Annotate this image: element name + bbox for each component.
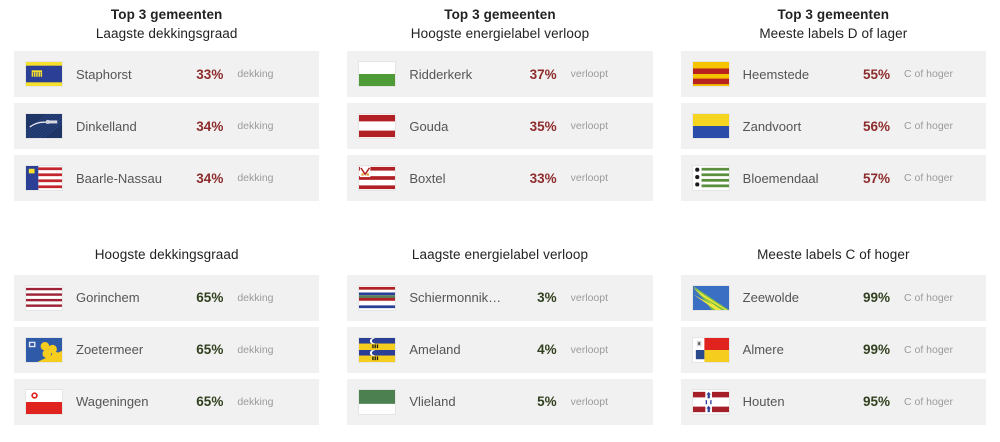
flag-wageningen-icon: [25, 389, 63, 415]
table-row[interactable]: Boxtel33%verloopt: [347, 155, 652, 201]
flag-baarle-nassau-icon: [25, 165, 63, 191]
percentage-value: 65%: [171, 342, 231, 357]
flag-zeewolde-icon: [692, 285, 730, 311]
table-row[interactable]: Heemstede55%C of hoger: [681, 51, 986, 97]
bottom-section: Hoogste dekkingsgraad Gorinchem65%dekkin…: [0, 232, 1000, 442]
flag-cell: [351, 389, 403, 415]
percentage-value: 56%: [838, 119, 898, 134]
flag-cell: [18, 337, 70, 363]
flag-cell: [18, 113, 70, 139]
flag-cell: [351, 113, 403, 139]
column-title: Top 3 gemeenten: [14, 6, 319, 25]
metric-unit-label: C of hoger: [898, 68, 976, 80]
column-meeste-labels-d-of-lager: Top 3 gemeentenMeeste labels D of lager …: [667, 0, 1000, 232]
table-row[interactable]: Vlieland5%verloopt: [347, 379, 652, 425]
column-header: Top 3 gemeentenLaagste dekkingsgraad: [14, 0, 319, 47]
table-row[interactable]: Gouda35%verloopt: [347, 103, 652, 149]
flag-bloemendaal-icon: [692, 165, 730, 191]
percentage-value: 65%: [171, 394, 231, 409]
table-row[interactable]: Zoetermeer65%dekking: [14, 327, 319, 373]
table-row[interactable]: Schiermonnikoog3%verloopt: [347, 275, 652, 321]
ranking-list: Schiermonnikoog3%verloopt Ameland4%verlo…: [347, 275, 652, 425]
flag-houten-icon: [692, 389, 730, 415]
percentage-value: 95%: [838, 394, 898, 409]
municipality-name: Wageningen: [70, 394, 171, 409]
metric-unit-label: C of hoger: [898, 172, 976, 184]
table-row[interactable]: Ameland4%verloopt: [347, 327, 652, 373]
municipality-name: Gorinchem: [70, 290, 171, 305]
metric-unit-label: verloopt: [565, 292, 643, 304]
table-row[interactable]: Houten95%C of hoger: [681, 379, 986, 425]
column-laagste-dekkingsgraad: Top 3 gemeentenLaagste dekkingsgraad Sta…: [0, 0, 333, 232]
metric-unit-label: C of hoger: [898, 120, 976, 132]
flag-zandvoort-icon: [692, 113, 730, 139]
column-header: Top 3 gemeentenMeeste labels D of lager: [681, 0, 986, 47]
municipality-name: Heemstede: [737, 67, 838, 82]
percentage-value: 37%: [505, 67, 565, 82]
flag-gouda-icon: [358, 113, 396, 139]
percentage-value: 55%: [838, 67, 898, 82]
percentage-value: 34%: [171, 119, 231, 134]
ranking-list: Ridderkerk37%verloopt Gouda35%verloopt B…: [347, 51, 652, 201]
flag-cell: [18, 389, 70, 415]
column-subtitle: Laagste energielabel verloop: [347, 246, 652, 265]
flag-cell: [351, 165, 403, 191]
top-section: Top 3 gemeentenLaagste dekkingsgraad Sta…: [0, 0, 1000, 232]
flag-cell: [685, 285, 737, 311]
table-row[interactable]: Baarle-Nassau34%dekking: [14, 155, 319, 201]
percentage-value: 33%: [171, 67, 231, 82]
table-row[interactable]: Dinkelland34%dekking: [14, 103, 319, 149]
ranking-list: Gorinchem65%dekking Zoetermeer65%dekking…: [14, 275, 319, 425]
percentage-value: 4%: [505, 342, 565, 357]
municipality-name: Almere: [737, 342, 838, 357]
metric-unit-label: verloopt: [565, 68, 643, 80]
metric-unit-label: verloopt: [565, 344, 643, 356]
flag-almere-icon: [692, 337, 730, 363]
ranking-list: Zeewolde99%C of hoger Almere99%C of hoge…: [681, 275, 986, 425]
metric-unit-label: verloopt: [565, 120, 643, 132]
metric-unit-label: dekking: [231, 344, 309, 356]
table-row[interactable]: Almere99%C of hoger: [681, 327, 986, 373]
municipality-name: Bloemendaal: [737, 171, 838, 186]
municipality-name: Staphorst: [70, 67, 171, 82]
table-row[interactable]: Bloemendaal57%C of hoger: [681, 155, 986, 201]
flag-boxtel-icon: [358, 165, 396, 191]
metric-unit-label: C of hoger: [898, 344, 976, 356]
ranking-list: Heemstede55%C of hoger Zandvoort56%C of …: [681, 51, 986, 201]
column-subtitle: Meeste labels C of hoger: [681, 246, 986, 265]
metric-unit-label: verloopt: [565, 396, 643, 408]
flag-schiermonnikoog-icon: [358, 285, 396, 311]
flag-cell: [351, 285, 403, 311]
column-hoogste-energielabel-verloop: Top 3 gemeentenHoogste energielabel verl…: [333, 0, 666, 232]
flag-ameland-icon: [358, 337, 396, 363]
column-subtitle: Hoogste dekkingsgraad: [14, 246, 319, 265]
municipality-name: Zeewolde: [737, 290, 838, 305]
percentage-value: 65%: [171, 290, 231, 305]
percentage-value: 35%: [505, 119, 565, 134]
flag-zoetermeer-icon: [25, 337, 63, 363]
municipality-name: Baarle-Nassau: [70, 171, 171, 186]
municipality-name: Boxtel: [403, 171, 504, 186]
municipality-name: Gouda: [403, 119, 504, 134]
metric-unit-label: dekking: [231, 172, 309, 184]
flag-cell: [351, 61, 403, 87]
percentage-value: 33%: [505, 171, 565, 186]
flag-vlieland-icon: [358, 389, 396, 415]
flag-cell: [685, 165, 737, 191]
metric-unit-label: C of hoger: [898, 292, 976, 304]
column-meeste-labels-c-of-hoger: Meeste labels C of hoger Zeewolde99%C of…: [667, 232, 1000, 442]
percentage-value: 3%: [505, 290, 565, 305]
column-subtitle: Meeste labels D of lager: [681, 25, 986, 44]
flag-staphorst-icon: [25, 61, 63, 87]
flag-cell: [351, 337, 403, 363]
flag-cell: [685, 61, 737, 87]
metric-unit-label: dekking: [231, 68, 309, 80]
flag-cell: [18, 285, 70, 311]
column-header: Hoogste dekkingsgraad: [14, 232, 319, 271]
column-header: Laagste energielabel verloop: [347, 232, 652, 271]
ranking-list: Staphorst33%dekking Dinkelland34%dekking…: [14, 51, 319, 201]
column-title: Top 3 gemeenten: [681, 6, 986, 25]
metric-unit-label: verloopt: [565, 172, 643, 184]
table-row[interactable]: Zeewolde99%C of hoger: [681, 275, 986, 321]
column-laagste-energielabel-verloop: Laagste energielabel verloop Schiermonni…: [333, 232, 666, 442]
flag-ridderkerk-icon: [358, 61, 396, 87]
flag-heemstede-icon: [692, 61, 730, 87]
municipality-name: Ameland: [403, 342, 504, 357]
municipality-name: Vlieland: [403, 394, 504, 409]
percentage-value: 99%: [838, 290, 898, 305]
municipality-name: Ridderkerk: [403, 67, 504, 82]
table-row[interactable]: Wageningen65%dekking: [14, 379, 319, 425]
municipality-name: Zoetermeer: [70, 342, 171, 357]
metric-unit-label: C of hoger: [898, 396, 976, 408]
table-row[interactable]: Zandvoort56%C of hoger: [681, 103, 986, 149]
column-hoogste-dekkingsgraad: Hoogste dekkingsgraad Gorinchem65%dekkin…: [0, 232, 333, 442]
municipality-name: Zandvoort: [737, 119, 838, 134]
flag-cell: [18, 61, 70, 87]
percentage-value: 99%: [838, 342, 898, 357]
flag-cell: [685, 337, 737, 363]
gemeenten-dashboard: Top 3 gemeentenLaagste dekkingsgraad Sta…: [0, 0, 1000, 442]
percentage-value: 5%: [505, 394, 565, 409]
metric-unit-label: dekking: [231, 120, 309, 132]
column-subtitle: Laagste dekkingsgraad: [14, 25, 319, 44]
flag-dinkelland-icon: [25, 113, 63, 139]
table-row[interactable]: Ridderkerk37%verloopt: [347, 51, 652, 97]
flag-gorinchem-icon: [25, 285, 63, 311]
flag-cell: [685, 389, 737, 415]
municipality-name: Houten: [737, 394, 838, 409]
municipality-name: Schiermonnikoog: [403, 290, 504, 305]
percentage-value: 57%: [838, 171, 898, 186]
column-title: Top 3 gemeenten: [347, 6, 652, 25]
flag-cell: [685, 113, 737, 139]
column-header: Meeste labels C of hoger: [681, 232, 986, 271]
percentage-value: 34%: [171, 171, 231, 186]
column-subtitle: Hoogste energielabel verloop: [347, 25, 652, 44]
metric-unit-label: dekking: [231, 396, 309, 408]
metric-unit-label: dekking: [231, 292, 309, 304]
table-row[interactable]: Gorinchem65%dekking: [14, 275, 319, 321]
municipality-name: Dinkelland: [70, 119, 171, 134]
table-row[interactable]: Staphorst33%dekking: [14, 51, 319, 97]
flag-cell: [18, 165, 70, 191]
column-header: Top 3 gemeentenHoogste energielabel verl…: [347, 0, 652, 47]
